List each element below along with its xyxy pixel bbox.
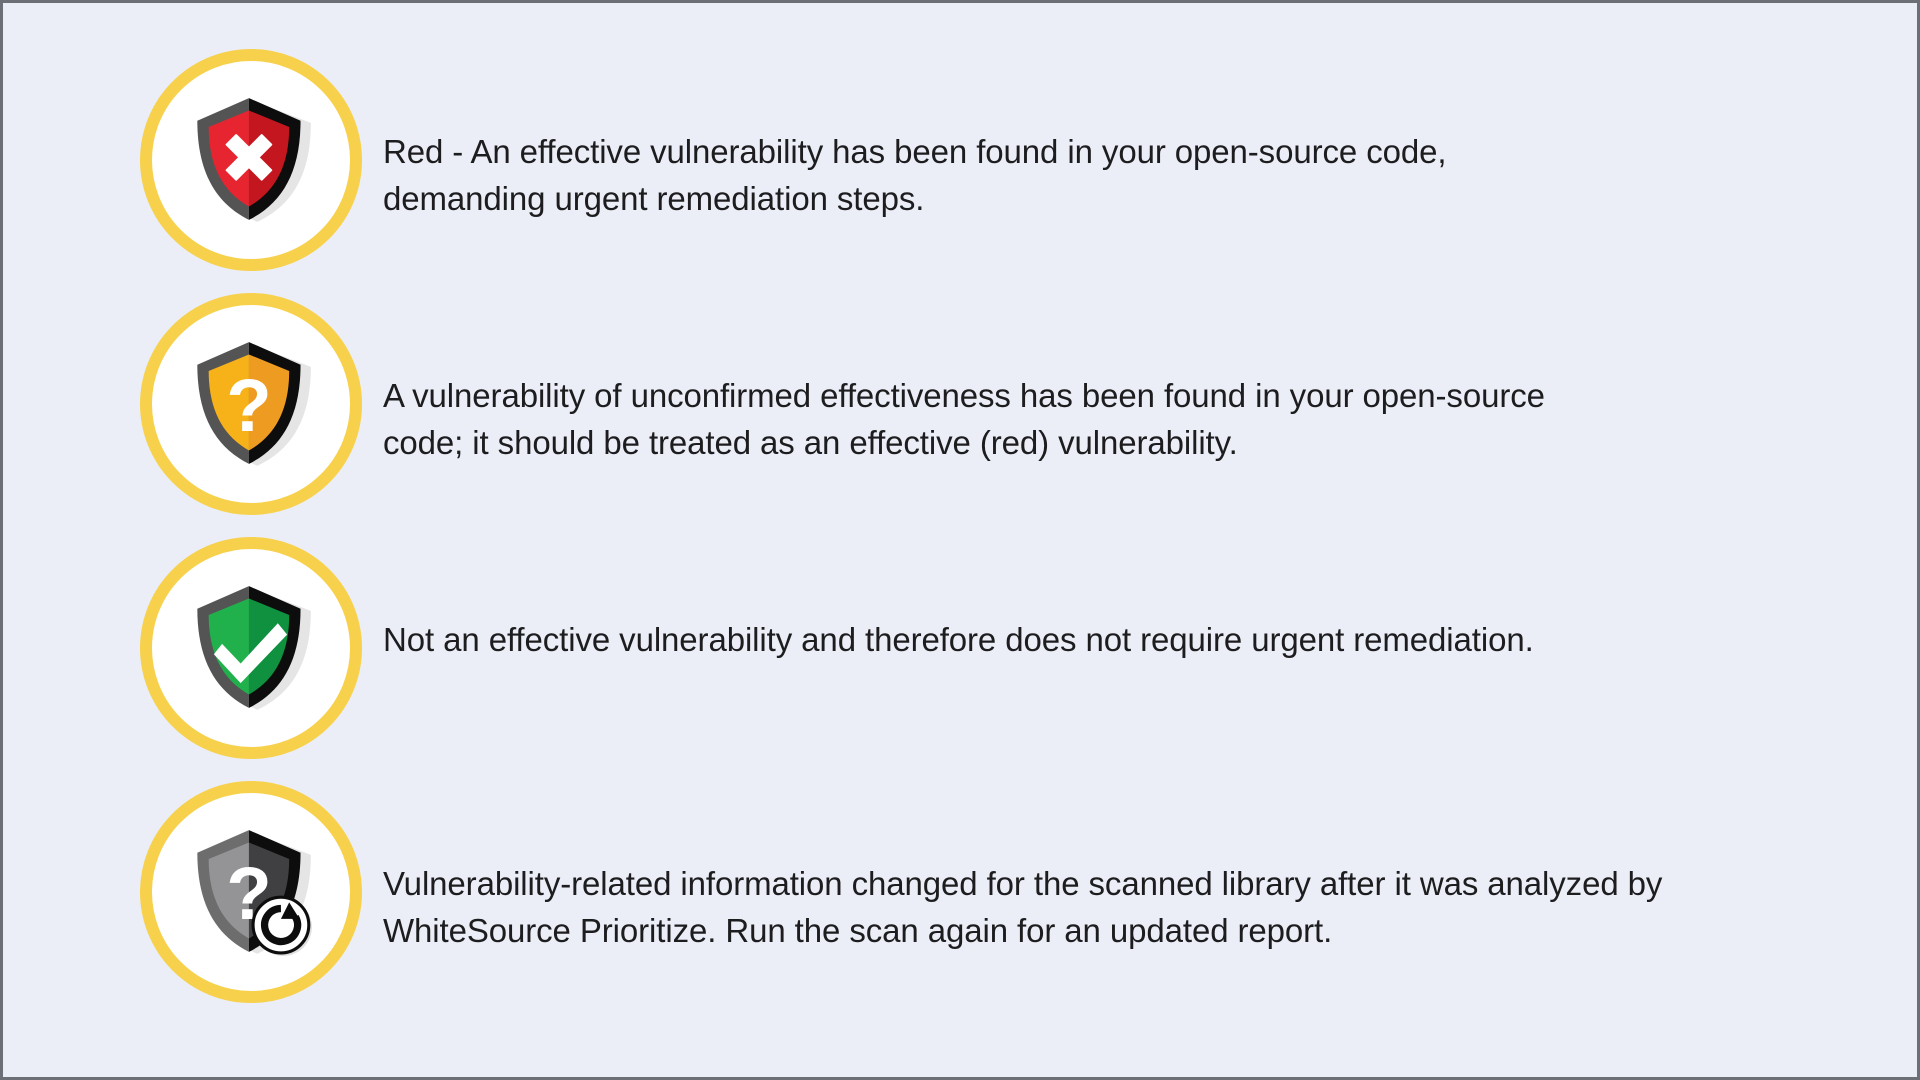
status-badge — [140, 49, 362, 271]
legend-panel: Red - An effective vulnerability has bee… — [0, 0, 1920, 1080]
shield-red-x-icon — [187, 96, 315, 224]
text-cell: A vulnerability of unconfirmed effective… — [383, 285, 1917, 467]
shield-orange-question-icon: ? — [187, 340, 315, 468]
text-cell: Not an effective vulnerability and there… — [383, 529, 1917, 664]
status-badge: ? — [140, 781, 362, 1003]
status-badge: ? — [140, 293, 362, 515]
shield-green-check-icon — [187, 584, 315, 712]
status-badge — [140, 537, 362, 759]
icon-cell: ? — [3, 773, 383, 1009]
legend-description: Vulnerability-related information change… — [383, 861, 1683, 955]
text-cell: Red - An effective vulnerability has bee… — [383, 41, 1917, 223]
refresh-icon — [253, 897, 312, 956]
legend-row: ? Vulnerability-related informat — [3, 773, 1917, 1018]
icon-cell — [3, 529, 383, 765]
legend-description: A vulnerability of unconfirmed effective… — [383, 373, 1628, 467]
legend-row: ? A vulnerability of unconfirmed effecti… — [3, 285, 1917, 530]
icon-cell: ? — [3, 285, 383, 521]
svg-text:?: ? — [226, 364, 271, 447]
legend-description: Not an effective vulnerability and there… — [383, 617, 1548, 664]
text-cell: Vulnerability-related information change… — [383, 773, 1917, 955]
legend-description: Red - An effective vulnerability has bee… — [383, 129, 1598, 223]
legend-row: Not an effective vulnerability and there… — [3, 529, 1917, 774]
legend-row: Red - An effective vulnerability has bee… — [3, 41, 1917, 286]
legend-row-list: Red - An effective vulnerability has bee… — [3, 3, 1917, 1077]
icon-cell — [3, 41, 383, 277]
shield-gray-question-refresh-icon: ? — [187, 828, 315, 956]
